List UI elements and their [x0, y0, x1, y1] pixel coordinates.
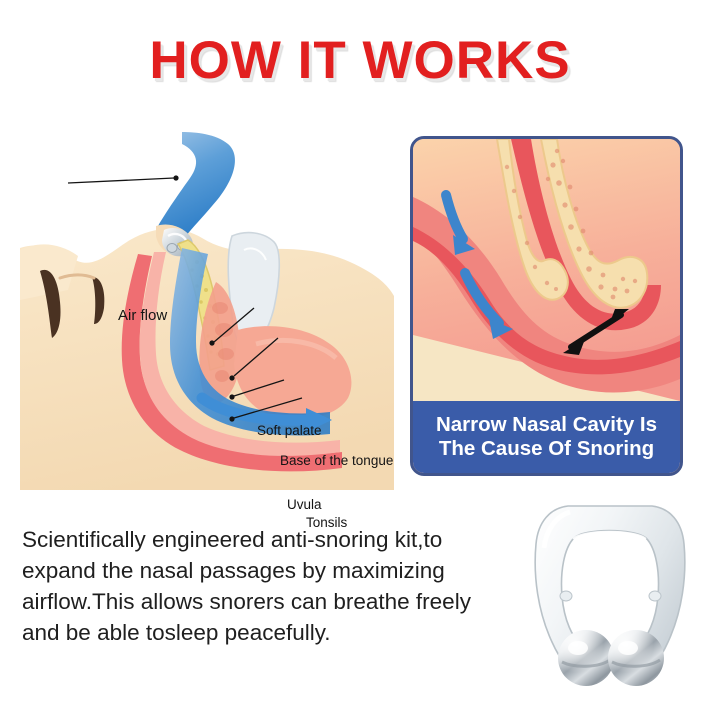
caption-line-1: Narrow Nasal Cavity Is — [436, 413, 657, 437]
narrow-nasal-cavity-panel: Narrow Nasal Cavity Is The Cause Of Snor… — [410, 136, 683, 476]
nasal-panel-caption: Narrow Nasal Cavity Is The Cause Of Snor… — [413, 401, 680, 473]
description-line-4: and be able tosleep peacefully. — [22, 617, 492, 648]
silicone-nub-left — [560, 591, 572, 601]
label-base-of-the-tongue: Base of the tongue — [280, 454, 393, 468]
label-airflow: Air flow — [118, 308, 167, 323]
nasal-cavity-illustration-svg — [413, 139, 680, 407]
anatomy-illustration-svg — [6, 130, 408, 490]
description-line-1: Scientifically engineered anti-snoring k… — [22, 524, 492, 555]
label-uvula: Uvula — [287, 498, 322, 512]
caption-line-2: The Cause Of Snoring — [439, 437, 654, 461]
label-soft-palate: Soft palate — [257, 424, 322, 438]
page-title: HOW IT WORKS — [149, 34, 570, 87]
description-line-3: airflow.This allows snorers can breathe … — [22, 586, 492, 617]
anatomy-cross-section-figure: Air flow Soft palate Base of the tongue … — [6, 130, 408, 490]
silicone-inner-rim — [574, 533, 645, 540]
description-line-2: expand the nasal passages by maximizing — [22, 555, 492, 586]
airflow-stream-upper — [158, 132, 235, 236]
product-image-nose-clip — [512, 492, 712, 698]
nose-clip-product-svg — [512, 492, 712, 698]
title-banner: HOW IT WORKS — [0, 34, 720, 87]
product-description: Scientifically engineered anti-snoring k… — [22, 524, 492, 648]
leader-dot-airflow — [173, 175, 178, 180]
magnet-ball-right — [608, 630, 664, 686]
magnet-ball-left — [558, 630, 614, 686]
silicone-nub-right — [649, 591, 661, 601]
leader-airflow — [68, 178, 174, 183]
